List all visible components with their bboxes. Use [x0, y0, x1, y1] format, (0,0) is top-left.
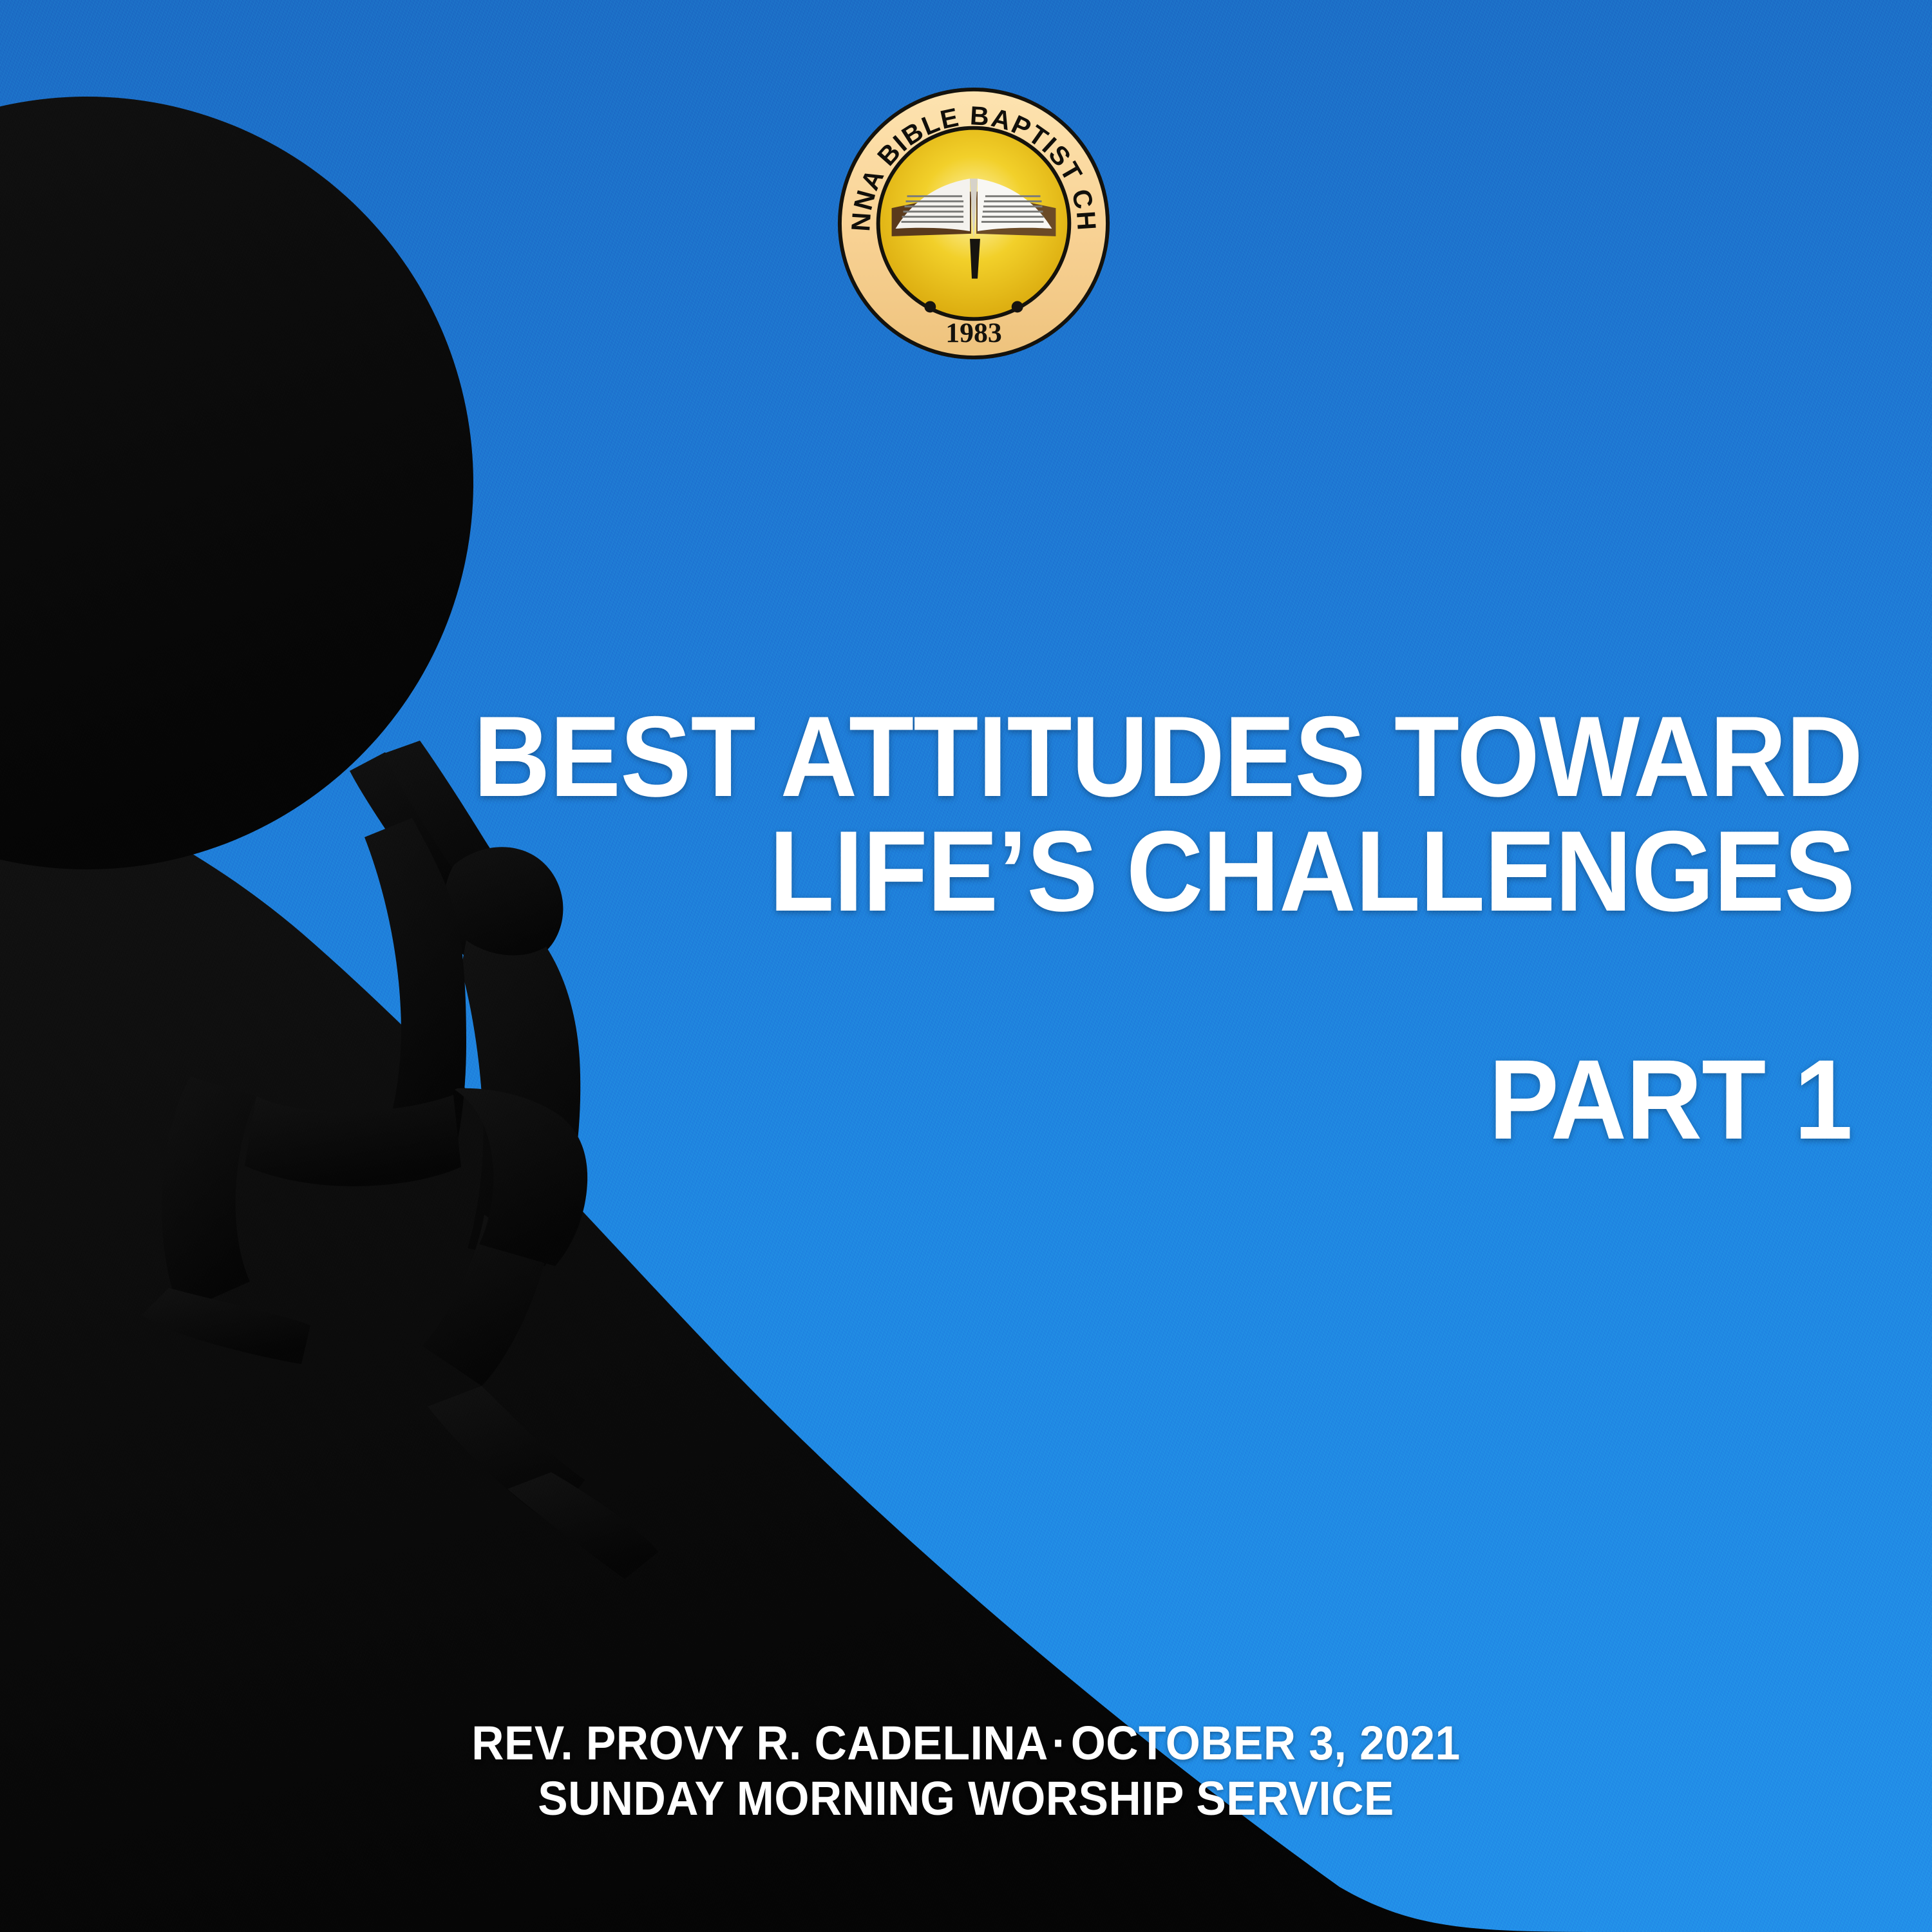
footer-service: SUNDAY MORNING WORSHIP SERVICE [58, 1771, 1874, 1826]
logo-dot-left [924, 301, 936, 312]
title-line-1: BEST ATTITUDES TOWARD [33, 702, 1830, 812]
footer-line-speaker-date: REV. PROVY R. CADELINA·OCTOBER 3, 2021 [58, 1716, 1874, 1770]
footer-speaker: REV. PROVY R. CADELINA [471, 1716, 1048, 1770]
logo-year: 1983 [945, 317, 1002, 348]
logo-dot-right [1012, 301, 1023, 312]
footer-separator: · [1048, 1716, 1071, 1770]
footer-date: OCTOBER 3, 2021 [1071, 1716, 1461, 1770]
church-logo: HOSANNA BIBLE BAPTIST CHURCH [833, 82, 1115, 365]
sermon-title-card: HOSANNA BIBLE BAPTIST CHURCH [0, 0, 1932, 1932]
title-line-2: LIFE’S CHALLENGES [130, 817, 1927, 927]
part-label: PART 1 [129, 1043, 1926, 1157]
